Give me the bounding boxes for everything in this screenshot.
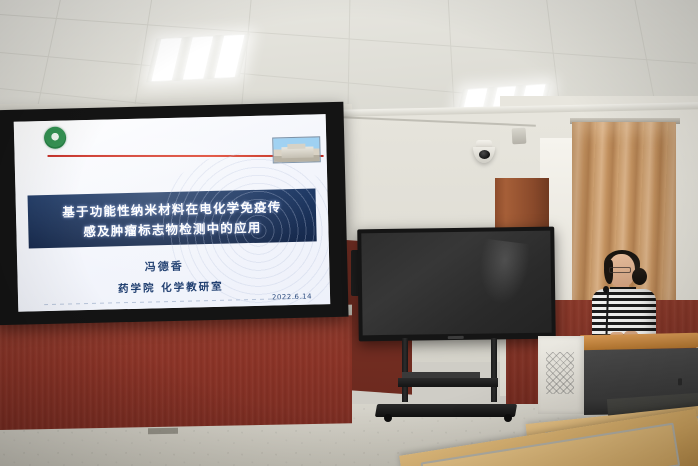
- display-stand-column-left: [402, 338, 408, 402]
- projection-screen-surface: 基于功能性纳米材料在电化学免疫传 感及肿瘤标志物检测中的应用 冯德香 药学院 化…: [14, 114, 331, 312]
- stand-caster: [384, 414, 392, 422]
- campus-building-photo: [272, 136, 321, 163]
- lectern-wood-top: [580, 333, 698, 350]
- camera-lens-icon: [479, 150, 490, 159]
- slide-date: 2022.6.14: [272, 293, 312, 302]
- slide-affiliation: 药学院 化学教研室: [18, 276, 330, 299]
- light-tube: [214, 35, 244, 78]
- display-stand-shelf: [398, 378, 498, 387]
- lectern-side-panel: [538, 336, 584, 414]
- display-screen[interactable]: [361, 231, 551, 336]
- presenter-hair-bun: [632, 268, 647, 285]
- eyeglasses-icon: [609, 267, 631, 273]
- lecture-room-photo: 基于功能性纳米材料在电化学免疫传 感及肿瘤标志物检测中的应用 冯德香 药学院 化…: [0, 0, 698, 466]
- mahogany-wood-wainscot: [0, 315, 352, 430]
- lectern-front-panel: [582, 348, 698, 398]
- slide-title-band: 基于功能性纳米材料在电化学免疫传 感及肿瘤标志物检测中的应用: [28, 188, 317, 248]
- slide-title-line-1: 基于功能性纳米材料在电化学免疫传: [62, 196, 282, 220]
- light-tube: [152, 38, 182, 81]
- slide-author: 冯德香: [17, 254, 329, 278]
- slide-footer-rule: [44, 298, 304, 305]
- display-brand-mark: [447, 336, 463, 339]
- presentation-slide: 基于功能性纳米材料在电化学免疫传 感及肿瘤标志物检测中的应用 冯德香 药学院 化…: [14, 114, 331, 312]
- floor-vent: [148, 428, 178, 435]
- slide-title-line-2: 感及肿瘤标志物检测中的应用: [83, 217, 262, 240]
- ceiling-light-left: [146, 34, 250, 83]
- stand-caster: [504, 414, 512, 422]
- presenter-figure: [592, 254, 658, 346]
- diamond-lattice-pattern: [546, 352, 574, 394]
- lectern-lock-icon: [678, 378, 682, 385]
- projection-screen[interactable]: 基于功能性纳米材料在电化学免疫传 感及肿瘤标志物检测中的应用 冯德香 药学院 化…: [0, 102, 349, 326]
- light-tube: [183, 36, 213, 79]
- wall-speaker: [512, 128, 527, 145]
- flat-panel-display[interactable]: [357, 227, 556, 342]
- university-emblem-icon: [44, 127, 67, 150]
- mobile-display-stand-base: [375, 404, 517, 417]
- display-stand-column-right: [491, 338, 497, 402]
- screen-reflection: [475, 239, 532, 308]
